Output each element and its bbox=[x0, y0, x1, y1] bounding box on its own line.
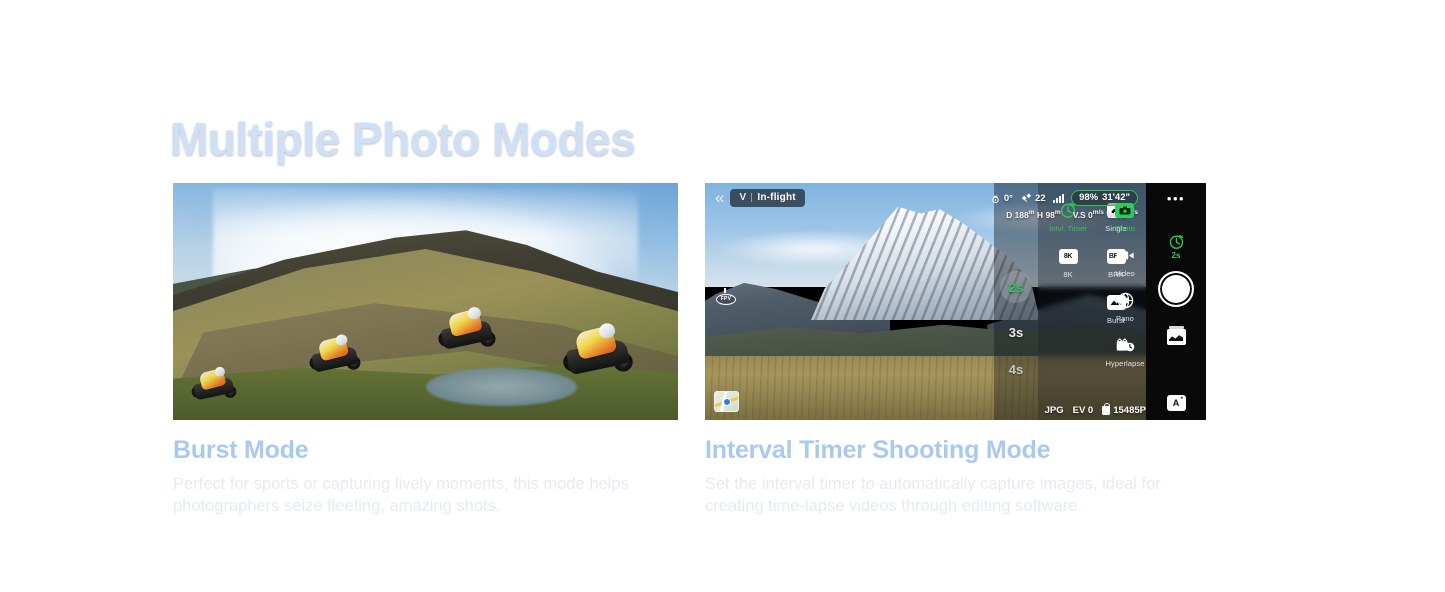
mode-8k[interactable]: 8K 8K bbox=[1044, 247, 1092, 279]
auto-label: A bbox=[1173, 398, 1180, 408]
capture-mode-hyperlapse[interactable]: Hyperlapse bbox=[1106, 336, 1145, 368]
panorama-sphere-icon bbox=[1115, 291, 1135, 309]
interval-option-2s[interactable]: 2s bbox=[1000, 271, 1032, 303]
more-options-icon[interactable]: ••• bbox=[1167, 192, 1185, 205]
divider bbox=[751, 193, 752, 202]
back-icon[interactable]: « bbox=[713, 189, 730, 208]
water-pool bbox=[426, 368, 578, 406]
auto-mode-icon[interactable]: A* bbox=[1167, 395, 1186, 411]
drone-camera-ui: « V In-flight 0° bbox=[705, 183, 1206, 420]
capture-mode-video-label: Video bbox=[1115, 269, 1135, 278]
interval-option-3s[interactable]: 3s bbox=[1009, 325, 1023, 340]
capture-info-bar: JPG EV 0 15485P bbox=[1045, 405, 1146, 416]
fpv-label: FPV bbox=[716, 294, 736, 305]
video-camera-icon bbox=[1115, 246, 1135, 264]
distance-unit: m bbox=[1029, 209, 1035, 216]
capture-mode-column: Photo Video bbox=[1104, 201, 1146, 368]
gimbal-icon bbox=[990, 193, 1001, 204]
capture-mode-pano[interactable]: Pano bbox=[1115, 291, 1135, 323]
signal-bars-icon bbox=[1053, 193, 1065, 203]
8k-icon: 8K bbox=[1058, 247, 1078, 265]
burst-mode-image bbox=[173, 183, 678, 420]
rider-frame-2 bbox=[310, 322, 361, 370]
flight-status-prefix: V bbox=[739, 192, 746, 203]
8k-glyph: 8K bbox=[1059, 249, 1078, 264]
distance-label: D bbox=[1006, 210, 1012, 220]
flight-status-badge[interactable]: V In-flight bbox=[730, 189, 804, 207]
capture-mode-pano-label: Pano bbox=[1116, 314, 1134, 323]
hyperlapse-icon bbox=[1115, 336, 1135, 354]
capture-mode-video[interactable]: Video bbox=[1115, 246, 1135, 278]
exposure-value[interactable]: EV 0 bbox=[1073, 405, 1094, 416]
distance-value: 188 bbox=[1015, 210, 1029, 220]
vertical-speed-unit: m/s bbox=[1093, 209, 1104, 216]
page-title: Multiple Photo Modes bbox=[170, 112, 635, 166]
rider-frame-1 bbox=[192, 356, 237, 398]
shutter-button[interactable] bbox=[1158, 271, 1194, 307]
feature-card-burst: Burst Mode Perfect for sports or capturi… bbox=[173, 183, 678, 518]
capture-mode-hyperlapse-label: Hyperlapse bbox=[1106, 359, 1145, 368]
file-format[interactable]: JPG bbox=[1045, 405, 1064, 416]
timer-value: 2s bbox=[1172, 251, 1181, 260]
gimbal-value: 0° bbox=[1004, 193, 1013, 204]
motocross-scene bbox=[173, 183, 678, 420]
storage-remaining: 15485P bbox=[1113, 405, 1146, 416]
height-value: 98 bbox=[1045, 210, 1054, 220]
feature-card-interval: « V In-flight 0° bbox=[705, 183, 1206, 518]
rider-frame-3 bbox=[438, 293, 495, 346]
camera-control-rail: ••• 2s A* bbox=[1146, 183, 1206, 420]
interval-mode-title: Interval Timer Shooting Mode bbox=[705, 436, 1206, 465]
timer-icon bbox=[1168, 233, 1185, 250]
map-thumbnail[interactable] bbox=[714, 391, 739, 412]
satellite-count: 22 bbox=[1035, 193, 1046, 204]
flight-status-label: In-flight bbox=[757, 192, 795, 203]
mode-8k-label: 8K bbox=[1063, 270, 1072, 279]
satellite-indicator: 22 bbox=[1020, 193, 1046, 204]
lock-icon bbox=[1102, 406, 1110, 415]
height-label: H bbox=[1037, 210, 1043, 220]
interval-mode-description: Set the interval timer to automatically … bbox=[705, 474, 1175, 518]
capture-mode-photo[interactable]: Photo bbox=[1115, 201, 1135, 233]
vertical-speed-label: V.S bbox=[1073, 210, 1086, 220]
battery-percent: 98% bbox=[1079, 192, 1098, 203]
storage-indicator: 15485P bbox=[1102, 405, 1146, 416]
burst-mode-description: Perfect for sports or capturing lively m… bbox=[173, 474, 643, 518]
burst-mode-title: Burst Mode bbox=[173, 436, 678, 465]
satellite-icon bbox=[1020, 193, 1032, 204]
interval-mode-image: « V In-flight 0° bbox=[705, 183, 1206, 420]
antenna-icon bbox=[724, 288, 726, 293]
distance-readout: D 188m H 98m bbox=[1006, 209, 1061, 220]
gimbal-indicator: 0° bbox=[990, 193, 1013, 204]
signal-indicator bbox=[1053, 193, 1065, 203]
height-unit: m bbox=[1055, 209, 1061, 216]
fpv-badge[interactable]: FPV bbox=[715, 291, 737, 307]
mode-interval-timer-label: Intvl. Timer bbox=[1049, 224, 1087, 233]
rider-frame-4 bbox=[563, 306, 632, 371]
capture-mode-photo-label: Photo bbox=[1115, 224, 1135, 233]
interval-option-4s[interactable]: 4s bbox=[1009, 362, 1023, 377]
promo-page: Multiple Photo Modes bbox=[0, 0, 1445, 592]
gallery-thumbnail-icon[interactable] bbox=[1167, 329, 1186, 345]
camera-icon bbox=[1115, 201, 1135, 219]
map-pin-icon bbox=[723, 398, 731, 406]
self-timer-control[interactable]: 2s bbox=[1168, 233, 1185, 260]
